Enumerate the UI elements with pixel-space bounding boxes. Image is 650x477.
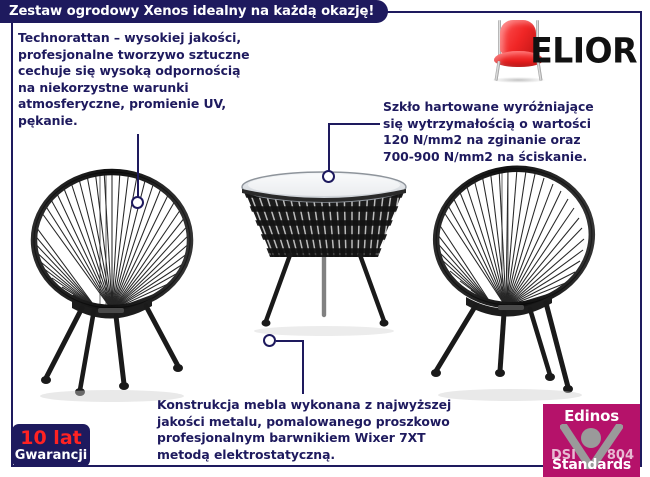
edinos-dot-icon xyxy=(581,428,601,448)
leader-line-glass-horizontal xyxy=(328,123,380,125)
callout-ring-rattan xyxy=(131,196,144,209)
leader-line-rattan xyxy=(137,134,139,201)
page-title: Zestaw ogrodowy Xenos idealny na każdą o… xyxy=(9,4,374,19)
edinos-standards-label: Standards xyxy=(543,457,640,473)
red-chair-icon xyxy=(487,17,523,83)
edinos-standards-badge: Edinos DSI 804 Standards xyxy=(543,404,640,477)
edinos-name: Edinos xyxy=(543,407,640,425)
leader-line-metal-vertical xyxy=(302,340,304,394)
warranty-label: Gwarancji xyxy=(15,448,88,463)
product-chair-left xyxy=(20,160,210,405)
leader-line-metal-horizontal xyxy=(276,340,304,342)
callout-text-metal-construction: Konstrukcja mebla wykonana z najwyższej … xyxy=(157,397,507,463)
warranty-years: 10 lat xyxy=(20,429,81,448)
product-table xyxy=(228,165,420,340)
brand-logo: ELIOR xyxy=(487,14,637,86)
product-chair-right xyxy=(418,155,608,405)
leader-line-glass-vertical xyxy=(328,123,330,172)
infographic-canvas: Technorattan – wysokiej jakości, profesj… xyxy=(0,0,650,477)
warranty-badge: 10 lat Gwarancji xyxy=(12,424,90,467)
brand-name: ELIOR xyxy=(530,33,637,68)
callout-ring-metal xyxy=(263,334,276,347)
title-banner: Zestaw ogrodowy Xenos idealny na każdą o… xyxy=(0,0,388,23)
callout-text-technorattan: Technorattan – wysokiej jakości, profesj… xyxy=(18,30,318,129)
